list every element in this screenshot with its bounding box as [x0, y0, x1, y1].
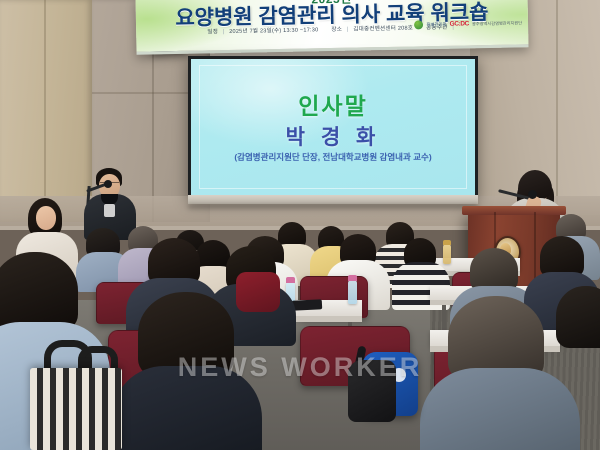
bottle-cap — [286, 277, 295, 283]
water-bottle — [348, 280, 357, 304]
wall-panel-left — [0, 0, 92, 222]
slide-heading: 인사말 — [191, 87, 475, 121]
podium-top — [462, 206, 566, 215]
bottle-cap — [443, 240, 451, 245]
wall-seam — [44, 0, 46, 222]
kdca-logo-text: 질병관리청 — [426, 21, 446, 27]
slide-speaker-name: 박 경 화 — [191, 121, 475, 151]
banner-place-label: 장소 — [331, 27, 342, 33]
screen-base — [188, 195, 478, 204]
banner-schedule-value: 2025년 7월 23일(수) 13:30 ~17:30 — [229, 27, 318, 35]
microphone-icon — [528, 190, 537, 199]
attendee-body — [420, 368, 580, 450]
attendee-body — [112, 366, 262, 450]
slide-speaker-affiliation: (감염병관리지원단 단장, 전남대학교병원 감염내과 교수) — [191, 151, 475, 163]
attendee-face — [36, 206, 56, 230]
banner-separator — [323, 27, 327, 33]
gcdc-logo-text: 광주광역시감염병관리지원단 — [472, 20, 522, 27]
tote-bag-icon — [30, 368, 122, 450]
event-banner: 2025년 요양병원 감염관리 의사 교육 워크숍 일정 | 2025년 7월 … — [135, 0, 528, 55]
water-bottle — [443, 244, 451, 264]
backpack-front-pocket — [348, 360, 396, 422]
bottle-cap — [348, 275, 357, 281]
banner-separator: | — [347, 27, 349, 33]
attendee-head — [556, 286, 600, 348]
screen-shadow — [188, 204, 478, 209]
wall-seam — [556, 0, 558, 215]
conference-photograph: 2025년 요양병원 감염관리 의사 교육 워크숍 일정 | 2025년 7월 … — [0, 0, 600, 450]
banner-separator: | — [223, 29, 225, 35]
banner-place-value: 김대중컨벤션센터 208호 — [353, 25, 413, 32]
microphone-icon — [104, 180, 112, 188]
gcdc-logo-icon: GC:DC — [450, 20, 469, 27]
smartphone — [292, 299, 322, 311]
projection-screen: 인사말 박 경 화 (감염병관리지원단 단장, 전남대학교병원 감염내과 교수) — [191, 59, 475, 195]
banner-schedule-label: 일정 — [207, 29, 218, 35]
attendee-head — [0, 252, 78, 332]
chair — [236, 272, 280, 312]
projection-screen-frame: 인사말 박 경 화 (감염병관리지원단 단장, 전남대학교병원 감염내과 교수) — [188, 56, 478, 198]
name-badge — [104, 204, 115, 217]
kdca-logo-icon — [414, 20, 423, 29]
